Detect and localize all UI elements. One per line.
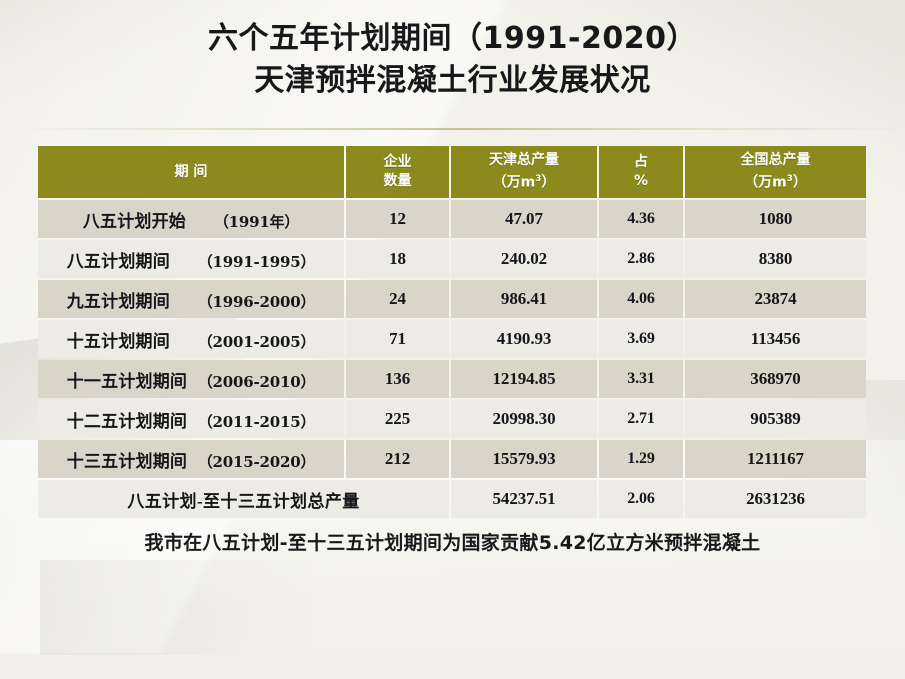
cell-share-pct: 2.86 [599,240,683,278]
cell-national-output: 113456 [685,320,866,358]
cell-period: 十五计划期间 （2001-2005） [38,320,344,358]
column-header-enterprise-count: 企业 数量 [346,146,449,198]
table-row: 十二五计划期间 （2011-2015） 225 20998.30 2.71 90… [38,400,866,438]
column-header-period-line1: 期 间 [38,163,344,182]
title-divider [33,128,898,130]
cell-national-output: 23874 [685,280,866,318]
table-row: 十一五计划期间 （2006-2010） 136 12194.85 3.31 36… [38,360,866,398]
cell-period-years: （2015-2020） [198,451,316,472]
column-header-share-pct-line2: % [599,172,683,191]
cell-period: 十三五计划期间 （2015-2020） [38,440,344,478]
table-row: 十三五计划期间 （2015-2020） 212 15579.93 1.29 12… [38,440,866,478]
cell-period-years: （1991-1995） [198,251,316,272]
cell-total-share-pct: 2.06 [599,480,683,518]
cell-total-label: 八五计划-至十三五计划总产量 [38,480,449,518]
column-header-period: 期 间 [38,146,344,198]
cell-share-pct: 2.71 [599,400,683,438]
cell-enterprise-count: 212 [346,440,449,478]
cell-period: 十一五计划期间 （2006-2010） [38,360,344,398]
column-header-tianjin-output-line1: 天津总产量 [451,151,597,170]
cell-period: 十二五计划期间 （2011-2015） [38,400,344,438]
cell-enterprise-count: 71 [346,320,449,358]
cell-period-years: （2006-2010） [198,371,316,392]
cell-period-name: 八五计划期间 [67,247,198,272]
slide-page: 六个五年计划期间（1991-2020） 天津预拌混凝土行业发展状况 期 间 企业… [0,0,905,653]
cell-tianjin-output: 240.02 [451,240,597,278]
cell-period: 八五计划期间 （1991-1995） [38,240,344,278]
cell-tianjin-output: 15579.93 [451,440,597,478]
cell-period: 九五计划期间 （1996-2000） [38,280,344,318]
cell-national-output: 1211167 [685,440,866,478]
cell-period-name: 九五计划期间 [67,287,198,312]
table-row: 八五计划期间 （1991-1995） 18 240.02 2.86 8380 [38,240,866,278]
cell-enterprise-count: 24 [346,280,449,318]
cell-tianjin-output: 4190.93 [451,320,597,358]
data-table-container: 期 间 企业 数量 天津总产量 （万m3） 占 % 全 [36,144,864,520]
cell-period-years: （1996-2000） [198,291,316,312]
development-status-table: 期 间 企业 数量 天津总产量 （万m3） 占 % 全 [36,144,868,520]
cell-period-years: （2001-2005） [198,331,316,352]
summary-footnote: 我市在八五计划-至十三五计划期间为国家贡献5.42亿立方米预拌混凝土 [0,528,905,555]
table-row: 八五计划开始 （1991年） 12 47.07 4.36 1080 [38,200,866,238]
page-title: 六个五年计划期间（1991-2020） 天津预拌混凝土行业发展状况 [0,18,905,102]
column-header-enterprise-count-line1: 企业 [346,153,449,172]
column-header-national-output: 全国总产量 （万m3） [685,146,866,198]
cell-total-tianjin-output: 54237.51 [451,480,597,518]
cell-period-name: 十一五计划期间 [67,367,198,392]
table-header-row: 期 间 企业 数量 天津总产量 （万m3） 占 % 全 [38,146,866,198]
column-header-tianjin-output: 天津总产量 （万m3） [451,146,597,198]
cell-period-name: 十五计划期间 [67,327,198,352]
column-header-national-output-line1: 全国总产量 [685,151,866,170]
cell-national-output: 1080 [685,200,866,238]
table-body: 八五计划开始 （1991年） 12 47.07 4.36 1080 八五计划期间… [38,200,866,518]
cell-national-output: 905389 [685,400,866,438]
cell-enterprise-count: 225 [346,400,449,438]
column-header-national-output-line2: （万m3） [685,170,866,193]
cell-period-name: 八五计划开始 [83,207,214,232]
column-header-tianjin-output-line2: （万m3） [451,170,597,193]
cell-share-pct: 4.06 [599,280,683,318]
cell-enterprise-count: 12 [346,200,449,238]
cell-share-pct: 1.29 [599,440,683,478]
page-title-line-2: 天津预拌混凝土行业发展状况 [0,60,905,102]
cell-tianjin-output: 986.41 [451,280,597,318]
cell-enterprise-count: 136 [346,360,449,398]
table-header: 期 间 企业 数量 天津总产量 （万m3） 占 % 全 [38,146,866,198]
cell-tianjin-output: 12194.85 [451,360,597,398]
cell-national-output: 8380 [685,240,866,278]
cell-tianjin-output: 20998.30 [451,400,597,438]
cell-period: 八五计划开始 （1991年） [38,200,344,238]
cell-period-years: （2011-2015） [198,411,316,432]
page-title-line-1: 六个五年计划期间（1991-2020） [0,18,905,60]
cell-national-output: 368970 [685,360,866,398]
cell-share-pct: 4.36 [599,200,683,238]
cell-enterprise-count: 18 [346,240,449,278]
table-total-row: 八五计划-至十三五计划总产量 54237.51 2.06 2631236 [38,480,866,518]
cell-total-national-output: 2631236 [685,480,866,518]
cell-share-pct: 3.69 [599,320,683,358]
cell-tianjin-output: 47.07 [451,200,597,238]
cell-period-name: 十二五计划期间 [67,407,198,432]
cell-period-years: （1991年） [214,211,299,232]
cell-period-name: 十三五计划期间 [67,447,198,472]
column-header-share-pct-line1: 占 [599,153,683,172]
table-row: 九五计划期间 （1996-2000） 24 986.41 4.06 23874 [38,280,866,318]
table-row: 十五计划期间 （2001-2005） 71 4190.93 3.69 11345… [38,320,866,358]
column-header-share-pct: 占 % [599,146,683,198]
column-header-enterprise-count-line2: 数量 [346,172,449,191]
cell-share-pct: 3.31 [599,360,683,398]
